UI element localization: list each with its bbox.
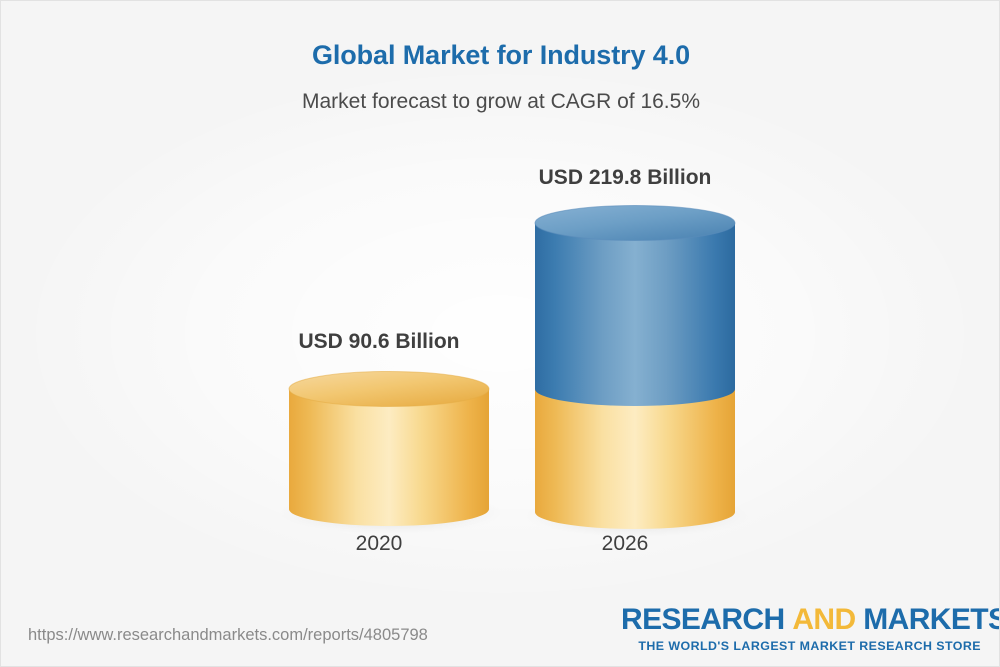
bar-segment-upper: [535, 223, 735, 406]
bar-2026: [517, 194, 747, 539]
axis-label-2020: 2020: [279, 532, 479, 556]
data-label-2020: USD 90.6 Billion: [279, 330, 479, 354]
bar-2020: [271, 361, 501, 536]
bar-segment-lower: [535, 389, 735, 529]
brand-word-and: AND: [792, 603, 855, 636]
chart-plot-area: USD 90.6 Billion USD 219.8 Billion 2020 …: [1, 1, 1000, 667]
infographic-canvas: Global Market for Industry 4.0 Market fo…: [0, 0, 1000, 667]
axis-label-2026: 2026: [525, 532, 725, 556]
data-label-2026: USD 219.8 Billion: [525, 166, 725, 190]
brand-logo[interactable]: RESEARCH AND MARKETS THE WORLD'S LARGEST…: [621, 605, 981, 653]
source-url[interactable]: https://www.researchandmarkets.com/repor…: [28, 626, 428, 645]
brand-wordmark: RESEARCH AND MARKETS: [621, 605, 981, 635]
brand-tagline: THE WORLD'S LARGEST MARKET RESEARCH STOR…: [621, 639, 981, 653]
brand-word-research: RESEARCH: [621, 603, 785, 636]
bar-body: [289, 389, 489, 526]
brand-word-markets: MARKETS: [863, 603, 1000, 636]
